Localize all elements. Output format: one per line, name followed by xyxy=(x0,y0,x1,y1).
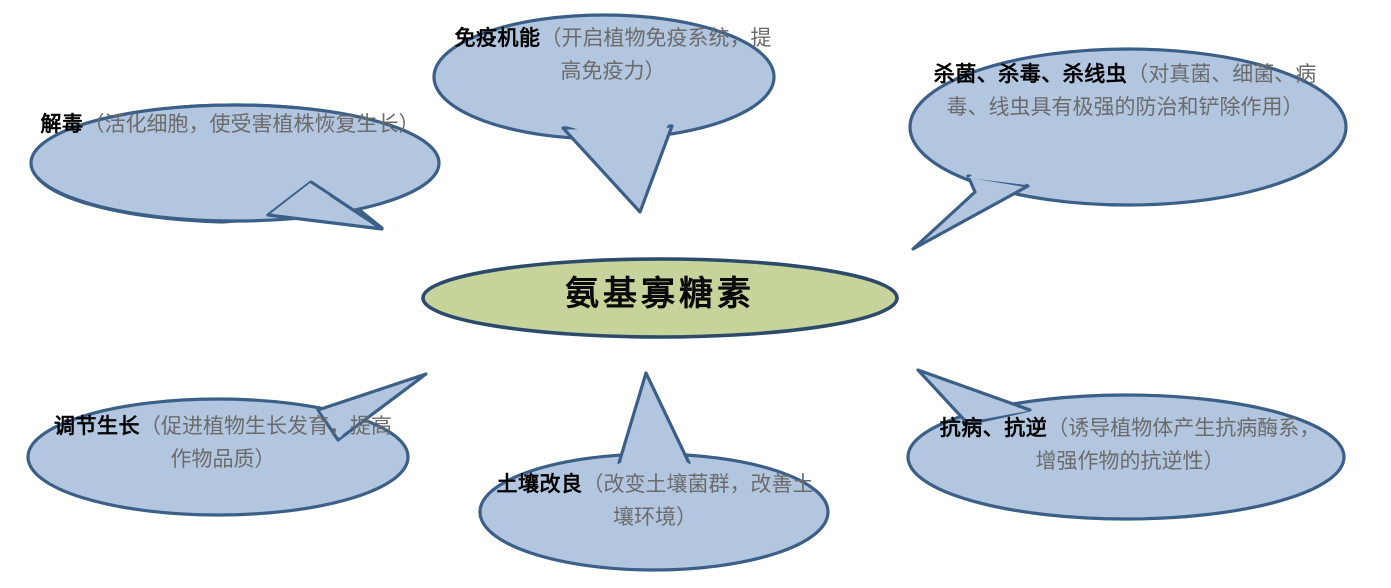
diagram-canvas: 解毒（活化细胞，使受害植株恢复生长） 免疫机能（开启植物免疫系统，提高免疫力） … xyxy=(0,0,1391,588)
center-node-label: 氨基寡糖素 xyxy=(432,278,888,312)
callout-body-immunity[interactable] xyxy=(434,15,774,139)
callout-tail-sterilize xyxy=(913,176,1028,249)
callout-body-soil[interactable] xyxy=(480,454,828,570)
callout-body-detox xyxy=(31,105,439,221)
